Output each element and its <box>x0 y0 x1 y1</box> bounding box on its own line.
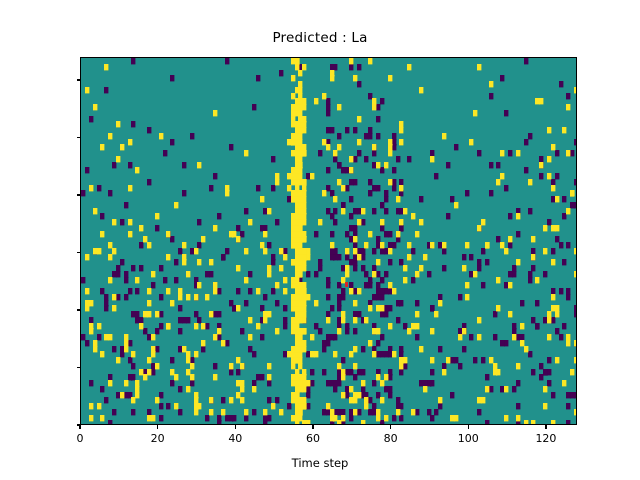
x-tick-label: 80 <box>351 432 431 445</box>
y-tick-mark <box>77 194 81 195</box>
x-tick-label: 20 <box>118 432 198 445</box>
x-tick-mark <box>157 425 158 429</box>
heatmap-axes[interactable] <box>80 57 577 425</box>
x-tick-label: 100 <box>428 432 508 445</box>
y-tick-mark <box>77 252 81 253</box>
x-tick-label: 0 <box>40 432 120 445</box>
y-tick-mark <box>77 309 81 310</box>
x-axis-label: Time step <box>0 456 640 470</box>
y-tick-mark <box>77 367 81 368</box>
x-tick-mark <box>390 425 391 429</box>
y-tick-mark <box>77 137 81 138</box>
matplotlib-figure: Predicted : La Frequency (Hz) Time step … <box>0 0 640 480</box>
x-tick-mark <box>312 425 313 429</box>
x-tick-label: 40 <box>195 432 275 445</box>
page-title: Predicted : La <box>0 30 640 46</box>
y-tick-mark <box>77 79 81 80</box>
x-tick-mark <box>235 425 236 429</box>
x-tick-mark <box>545 425 546 429</box>
x-tick-label: 60 <box>273 432 353 445</box>
x-tick-mark <box>468 425 469 429</box>
x-tick-mark <box>79 425 80 429</box>
x-tick-label: 120 <box>506 432 586 445</box>
heatmap-image[interactable] <box>81 58 577 425</box>
